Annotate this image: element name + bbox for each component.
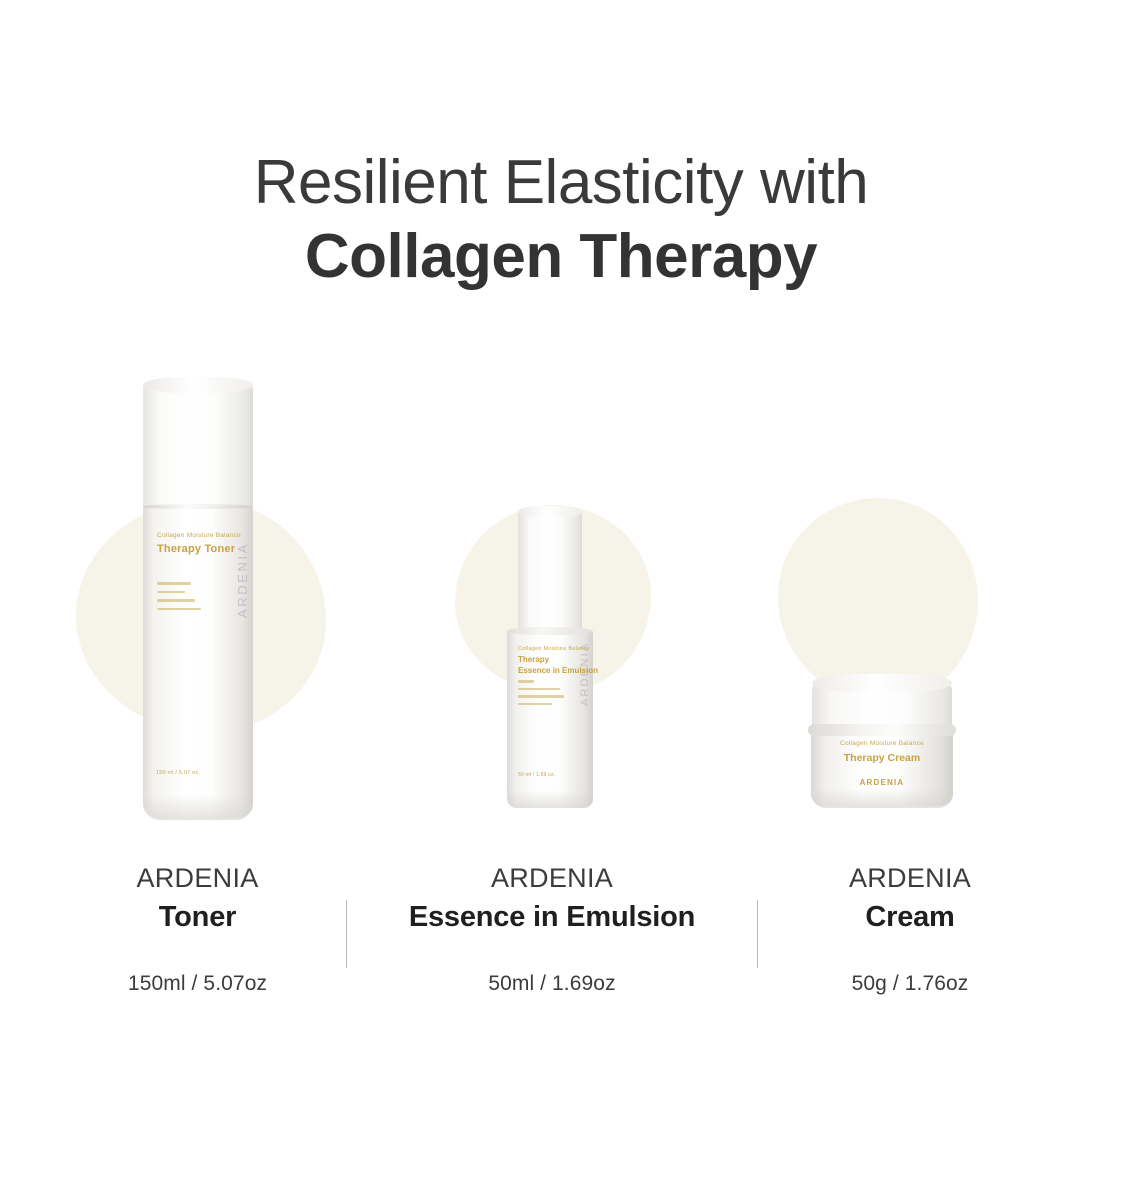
- caption-emulsion: ARDENIA Essence in Emulsion 50ml / 1.69o…: [352, 862, 752, 996]
- micro-line: [157, 599, 195, 602]
- caption-name-emulsion: Essence in Emulsion: [352, 898, 752, 936]
- emulsion-bottom-shading: [508, 790, 592, 808]
- toner-bottom-shading: [145, 794, 251, 820]
- toner-range-text: Collagen Moisture Balance: [157, 532, 241, 539]
- headline-line-1: Resilient Elasticity with: [0, 148, 1122, 217]
- background-blob-cream: [778, 498, 978, 703]
- emulsion-shoulder: [507, 627, 593, 635]
- micro-line: [157, 591, 185, 594]
- caption-cream: ARDENIA Cream 50g / 1.76oz: [760, 862, 1060, 996]
- cream-jar-rim: [808, 724, 956, 736]
- micro-line: [518, 680, 534, 683]
- emulsion-product-name-line-1: Therapy: [518, 655, 586, 665]
- emulsion-volume-text: 50 ml / 1.69 oz.: [518, 772, 555, 778]
- caption-divider-1: [346, 900, 347, 968]
- toner-cap: [143, 380, 253, 508]
- toner-volume-text: 150 ml / 5.07 oz.: [156, 770, 200, 776]
- cream-brand-text: ARDENIA: [811, 778, 953, 787]
- toner-cap-top: [143, 377, 253, 393]
- emulsion-bottle: Collagen Moisture Balance Therapy Essenc…: [507, 508, 593, 808]
- emulsion-range-text: Collagen Moisture Balance: [518, 646, 586, 652]
- product-image-toner: Collagen Moisture Balance Therapy Toner …: [45, 360, 375, 830]
- emulsion-product-name-line-2: Essence in Emulsion: [518, 666, 586, 676]
- emulsion-micro-copy: [518, 680, 566, 710]
- cream-range-text: Collagen Moisture Balance: [811, 740, 953, 747]
- caption-brand-emulsion: ARDENIA: [352, 862, 752, 896]
- caption-toner: ARDENIA Toner 150ml / 5.07oz: [45, 862, 350, 996]
- micro-line: [518, 688, 560, 691]
- emulsion-cap: [518, 508, 582, 632]
- micro-line: [518, 703, 552, 706]
- micro-line: [157, 582, 191, 585]
- caption-brand-toner: ARDENIA: [45, 862, 350, 896]
- caption-name-cream: Cream: [760, 898, 1060, 936]
- emulsion-cap-top: [518, 506, 582, 517]
- product-captions-row: ARDENIA Toner 150ml / 5.07oz ARDENIA Ess…: [0, 862, 1122, 1022]
- product-lineup-banner: Resilient Elasticity with Collagen Thera…: [0, 0, 1122, 1180]
- product-images-row: Collagen Moisture Balance Therapy Toner …: [0, 360, 1122, 830]
- caption-volume-cream: 50g / 1.76oz: [760, 972, 1060, 996]
- product-image-emulsion: Collagen Moisture Balance Therapy Essenc…: [400, 360, 730, 830]
- caption-name-toner: Toner: [45, 898, 350, 936]
- caption-volume-toner: 150ml / 5.07oz: [45, 972, 350, 996]
- cream-jar-lid-top: [812, 674, 952, 692]
- toner-label-text: Collagen Moisture Balance Therapy Toner: [157, 532, 241, 555]
- caption-divider-2: [757, 900, 758, 968]
- caption-volume-emulsion: 50ml / 1.69oz: [352, 972, 752, 996]
- micro-line: [518, 695, 564, 698]
- toner-bottle: Collagen Moisture Balance Therapy Toner …: [143, 380, 253, 820]
- cream-jar: Collagen Moisture Balance Therapy Cream …: [808, 678, 956, 808]
- page-title: Resilient Elasticity with Collagen Thera…: [0, 148, 1122, 297]
- toner-cap-seam: [143, 504, 253, 509]
- headline-line-2: Collagen Therapy: [0, 217, 1122, 296]
- toner-micro-copy: [157, 582, 203, 616]
- cream-product-name: Therapy Cream: [811, 752, 953, 764]
- caption-brand-cream: ARDENIA: [760, 862, 1060, 896]
- toner-product-name: Therapy Toner: [157, 543, 241, 555]
- cream-label-text: Collagen Moisture Balance Therapy Cream …: [811, 740, 953, 787]
- emulsion-label-text: Collagen Moisture Balance Therapy Essenc…: [518, 646, 586, 676]
- cream-bottom-shading: [813, 788, 951, 808]
- micro-line: [157, 608, 201, 611]
- product-image-cream: Collagen Moisture Balance Therapy Cream …: [740, 360, 1070, 830]
